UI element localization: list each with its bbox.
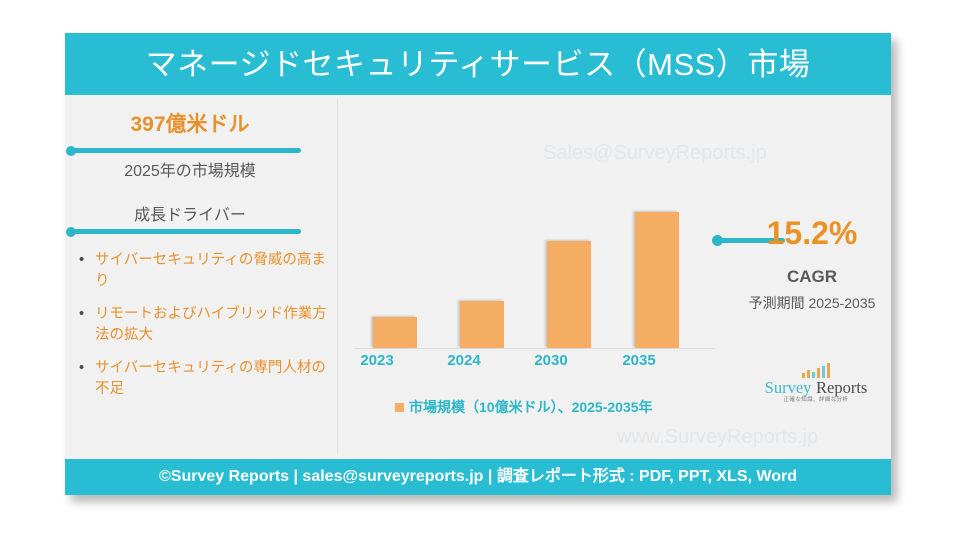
- chart-legend: 市場規模（10億米ドル）、2025-2035年: [395, 400, 653, 414]
- legend-label: 市場規模（10億米ドル）、2025-2035年: [409, 400, 653, 414]
- driver-text: サイバーセキュリティの脅威の高まり: [95, 252, 326, 289]
- logo-word-survey: Survey: [765, 378, 812, 397]
- market-size-value: 397億米ドル: [65, 114, 315, 135]
- driver-text: サイバーセキュリティの専門人材の不足: [95, 360, 326, 397]
- growth-drivers-heading: 成長ドライバー: [65, 208, 315, 224]
- x-tick-2035: 2035: [617, 353, 661, 368]
- list-item: • サイバーセキュリティの専門人材の不足: [73, 358, 331, 400]
- cagr-forecast-period: 予測期間 2025-2035: [733, 296, 891, 310]
- bullet-icon: •: [79, 250, 84, 271]
- bar-2024: [460, 301, 504, 348]
- x-tick-2023: 2023: [355, 353, 399, 368]
- list-item: • リモートおよびハイブリッド作業方法の拡大: [73, 304, 331, 346]
- body-region: 397億米ドル 2025年の市場規模 成長ドライバー • サイバーセキュリティの…: [65, 95, 891, 459]
- bar-2030: [547, 241, 591, 348]
- page-title: マネージドセキュリティサービス（MSS）市場: [146, 49, 811, 80]
- cagr-value: 15.2%: [733, 217, 891, 249]
- footer-banner: ©Survey Reports | sales@surveyreports.jp…: [65, 459, 891, 495]
- divider-rule-top: [71, 148, 301, 153]
- list-item: • サイバーセキュリティの脅威の高まり: [73, 250, 331, 292]
- x-axis-line: [355, 348, 715, 349]
- survey-reports-logo: Survey Reports 正確な知識、詳細な分析: [741, 363, 891, 404]
- driver-text: リモートおよびハイブリッド作業方法の拡大: [95, 306, 327, 343]
- watermark-email: Sales@SurveyReports.jp: [543, 143, 767, 163]
- bar-2023: [373, 317, 417, 348]
- logo-word-reports: Reports: [816, 378, 867, 397]
- chart-plot-area: [355, 153, 715, 349]
- growth-drivers-list: • サイバーセキュリティの脅威の高まり • リモートおよびハイブリッド作業方法の…: [73, 250, 331, 412]
- logo-tagline: 正確な知識、詳細な分析: [741, 398, 891, 404]
- left-panel: 397億米ドル 2025年の市場規模 成長ドライバー • サイバーセキュリティの…: [65, 95, 337, 459]
- bar-2035: [635, 212, 679, 348]
- market-size-caption: 2025年の市場規模: [65, 164, 315, 180]
- infographic-root: マネージドセキュリティサービス（MSS）市場 397億米ドル 2025年の市場規…: [0, 0, 960, 540]
- x-tick-2030: 2030: [529, 353, 573, 368]
- cagr-label: CAGR: [733, 268, 891, 285]
- divider-rule-bottom: [71, 229, 301, 234]
- infographic-card: マネージドセキュリティサービス（MSS）市場 397億米ドル 2025年の市場規…: [65, 33, 891, 495]
- bullet-icon: •: [79, 304, 84, 325]
- bullet-icon: •: [79, 358, 84, 379]
- legend-swatch-icon: [395, 403, 404, 412]
- bar-chart-icon: [741, 363, 891, 378]
- watermark-website: www.SurveyReports.jp: [617, 427, 818, 447]
- footer-text: ©Survey Reports | sales@surveyreports.jp…: [159, 469, 797, 485]
- x-tick-2024: 2024: [442, 353, 486, 368]
- header-banner: マネージドセキュリティサービス（MSS）市場: [65, 33, 891, 95]
- logo-wordmark: Survey Reports: [741, 379, 891, 397]
